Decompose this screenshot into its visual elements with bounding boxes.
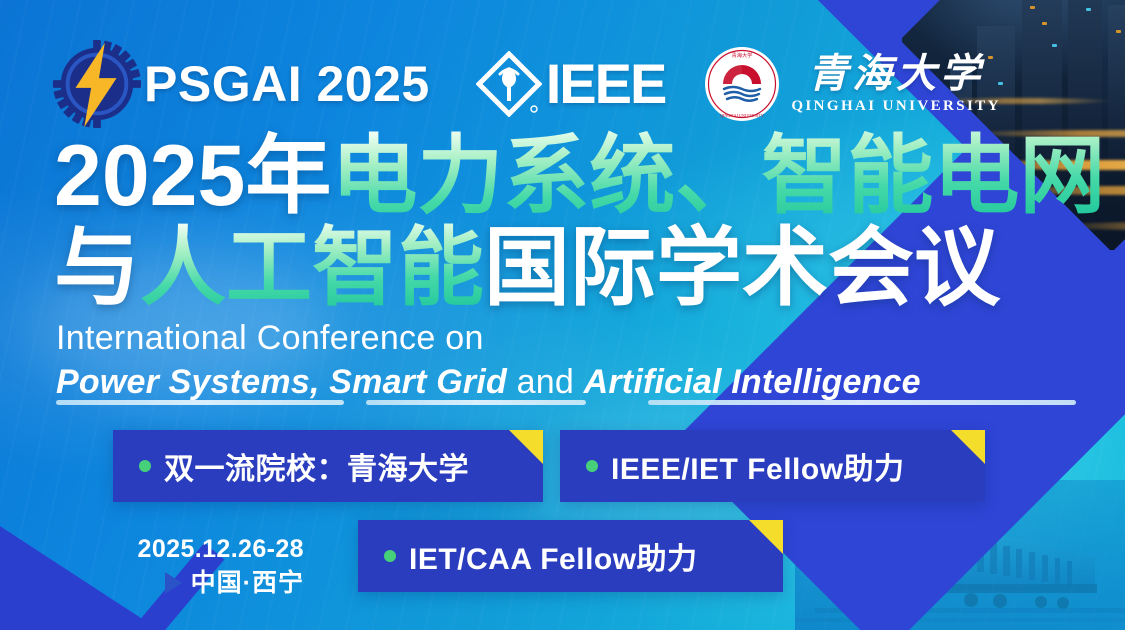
page-title-cn: 2025年电力系统、智能电网 与人工智能国际学术会议: [54, 132, 1064, 312]
subtitle-em-3: Artificial Intelligence: [584, 363, 921, 401]
title-cn-l2-part-3: 国际学术会议: [484, 220, 1000, 316]
subtitle-en-line-2: Power Systems, Smart Grid and Artificial…: [56, 360, 1076, 404]
svg-text:青海大学: 青海大学: [732, 51, 753, 59]
subtitle-underline-2: [366, 400, 586, 405]
university-name-cn: 青海大学: [808, 53, 984, 95]
badge-label-1: 双一流院校：青海大学: [164, 444, 469, 488]
highlight-badge-3[interactable]: IET/CAA Fellow助力: [358, 520, 783, 592]
subtitle-em-2: Smart Grid: [329, 363, 507, 401]
subtitle-underlines: [56, 400, 1076, 407]
subtitle-sep-2: and: [507, 363, 584, 401]
corner-triangle-icon: [749, 520, 783, 554]
title-cn-line-1: 2025年电力系统、智能电网: [54, 132, 1064, 220]
corner-triangle-icon: [509, 430, 543, 464]
event-date-location: 2025.12.26-28 中国·西宁: [114, 534, 304, 597]
qinghai-university-logo: 青海大学 QINGHAI UNIVERSITY 青海大学 QINGHAI UNI…: [703, 45, 1000, 123]
event-date: 2025.12.26-28: [114, 534, 304, 564]
qinghai-university-seal-icon: 青海大学 QINGHAI UNIVERSITY: [703, 45, 781, 123]
svg-text:QINGHAI UNIVERSITY: QINGHAI UNIVERSITY: [720, 113, 764, 118]
conference-banner: PSGAI 2025 IEEE: [0, 0, 1125, 630]
play-triangle-icon: [165, 572, 182, 594]
badge-label-3: IET/CAA Fellow助力: [409, 534, 698, 578]
bullet-dot-icon: [139, 460, 151, 472]
subtitle-underline-1: [56, 400, 344, 405]
bullet-dot-icon: [384, 550, 396, 562]
title-cn-l2-part-2: 人工智能: [140, 220, 484, 316]
logo-row: PSGAI 2025 IEEE: [52, 38, 1001, 130]
highlight-badge-2[interactable]: IEEE/IET Fellow助力: [560, 430, 985, 502]
university-name-en: QINGHAI UNIVERSITY: [791, 98, 1000, 115]
badge-label-2: IEEE/IET Fellow助力: [611, 444, 905, 488]
event-location-row: 中国·西宁: [114, 569, 304, 597]
subtitle-underline-3: [648, 400, 1076, 405]
ieee-wordmark: IEEE: [546, 56, 666, 112]
subtitle-em-1: Power Systems,: [56, 363, 320, 401]
title-cn-line-2: 与人工智能国际学术会议: [54, 224, 1064, 312]
subtitle-en: International Conference on Power System…: [56, 318, 1076, 404]
corner-triangle-icon: [951, 430, 985, 464]
brand-name: PSGAI 2025: [144, 59, 430, 109]
title-cn-l2-part-1: 与: [54, 220, 140, 316]
title-cn-l1-part-2: 电力系统、智能电网: [331, 128, 1105, 224]
title-cn-l1-part-1: 2025年: [54, 128, 331, 224]
bullet-dot-icon: [586, 460, 598, 472]
subtitle-sep-1: [320, 363, 330, 401]
ieee-diamond-kite-icon: [476, 51, 542, 117]
ieee-logo: IEEE: [476, 51, 666, 117]
gear-lightning-bolt-icon: [52, 38, 142, 130]
qinghai-university-names: 青海大学 QINGHAI UNIVERSITY: [791, 53, 1000, 115]
event-location: 中国·西宁: [191, 569, 304, 597]
subtitle-en-line-1: International Conference on: [56, 318, 1076, 358]
highlight-badge-1[interactable]: 双一流院校：青海大学: [113, 430, 543, 502]
